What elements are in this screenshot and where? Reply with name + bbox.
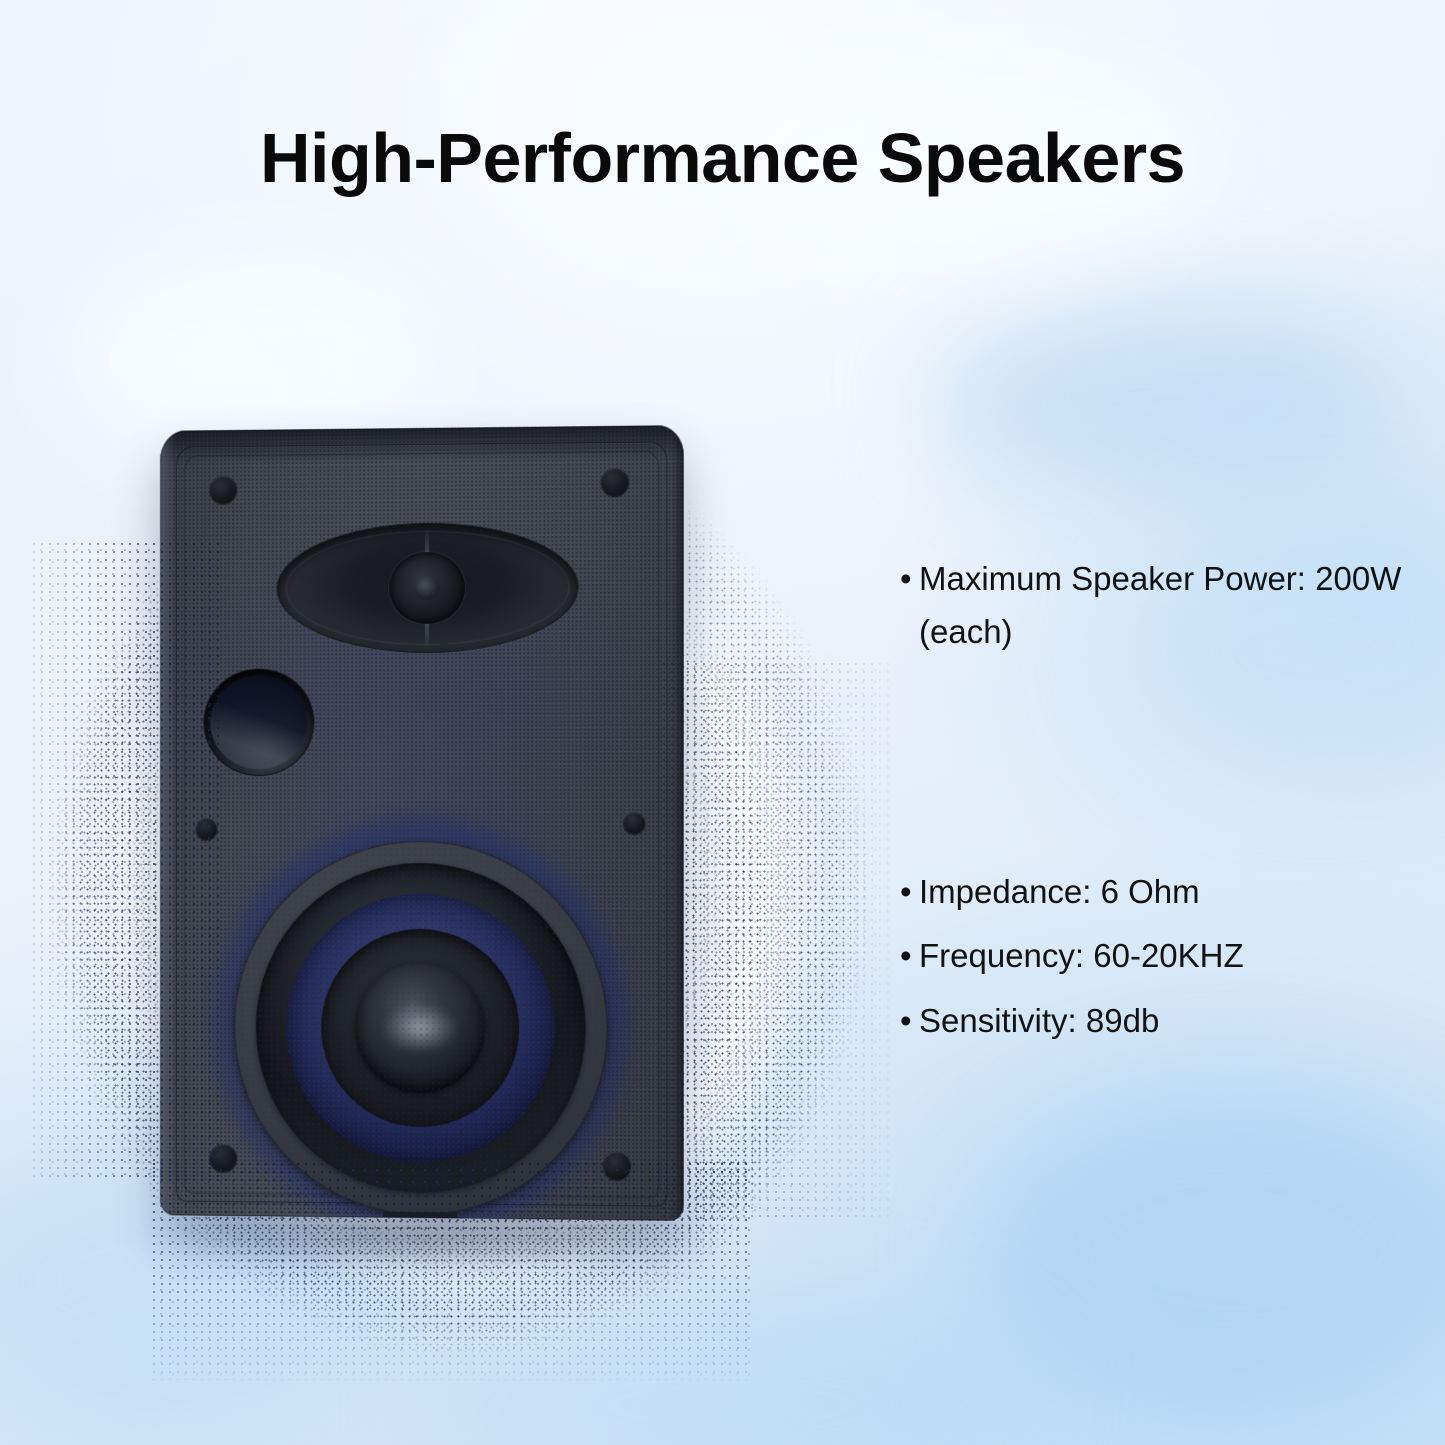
particle-spray-right [660, 660, 890, 1220]
spec-list-secondary: • Impedance: 6 Ohm • Frequency: 60-20KHZ… [900, 865, 1370, 1047]
woofer-dust-cap [355, 963, 485, 1094]
spec-item: • Sensitivity: 89db [900, 994, 1370, 1047]
mounting-screw-icon [623, 812, 645, 834]
mounting-screw-icon [601, 468, 629, 496]
mounting-screw-icon [209, 476, 237, 504]
bullet-icon: • [900, 994, 919, 1047]
tweeter-phase-bar [425, 528, 429, 650]
bullet-icon: • [900, 929, 919, 982]
bass-reflex-port [203, 668, 314, 776]
spec-text: Maximum Speaker Power: 200W (each) [919, 552, 1410, 659]
spec-item: • Impedance: 6 Ohm [900, 865, 1370, 918]
speaker-cabinet [160, 425, 684, 1221]
spec-item: • Maximum Speaker Power: 200W (each) [900, 552, 1410, 659]
mounting-screw-icon [196, 818, 218, 840]
mounting-screw-icon [209, 1144, 237, 1172]
woofer-driver [221, 828, 621, 1221]
tweeter-dome [389, 552, 465, 625]
spec-text: Frequency: 60-20KHZ [919, 929, 1370, 982]
mounting-screw-icon [603, 1152, 631, 1180]
spec-text: Impedance: 6 Ohm [919, 865, 1370, 918]
spec-text: Sensitivity: 89db [919, 994, 1370, 1047]
page-title: High-Performance Speakers [0, 122, 1445, 196]
product-image [0, 360, 900, 1445]
bullet-icon: • [900, 865, 919, 918]
woofer-specular-highlight [384, 1005, 456, 1051]
product-feature-banner: High-Performance Speakers [0, 0, 1445, 1445]
spec-list-primary: • Maximum Speaker Power: 200W (each) [900, 552, 1410, 659]
cabinet-right-edge [672, 425, 684, 1221]
spec-item: • Frequency: 60-20KHZ [900, 929, 1370, 982]
cabinet-left-edge [160, 431, 176, 1216]
bullet-icon: • [900, 552, 919, 605]
